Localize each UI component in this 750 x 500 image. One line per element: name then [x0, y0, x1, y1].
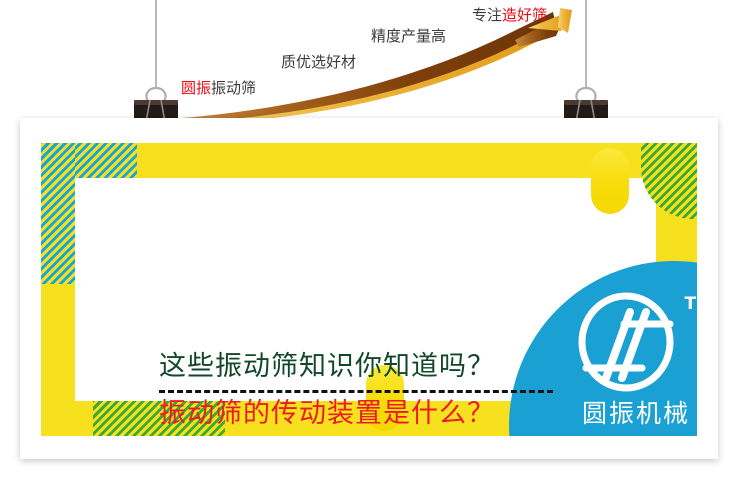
poster-canvas: 圆振振动筛 质优选好材 精度产量高 专注造好筛: [0, 0, 750, 500]
headline-block: 这些振动筛知识你知道吗？ 振动筛的传动装置是什么？: [159, 351, 579, 430]
growth-label-1: 圆振振动筛: [181, 81, 256, 96]
trademark-symbol: TM: [684, 294, 697, 314]
growth-arrow-icon: [0, 0, 750, 125]
growth-label-1-rest: 振动筛: [211, 79, 256, 97]
poster-card-body: TM 圆振机械 这些振动筛知识你知道吗？ 振动筛的传动装置是什么？: [41, 143, 697, 436]
growth-label-1-highlight: 圆振: [181, 79, 211, 97]
growth-label-3: 精度产量高: [371, 29, 446, 44]
headline-secondary: 振动筛的传动装置是什么？: [159, 398, 579, 430]
stripe-accent-top-right: [641, 143, 697, 219]
binder-clip-icon: [558, 0, 614, 126]
growth-label-2: 质优选好材: [281, 55, 356, 70]
headline-divider: [159, 390, 553, 393]
growth-label-4: 专注造好筛: [472, 8, 547, 23]
headline-primary: 这些振动筛知识你知道吗？: [159, 351, 579, 383]
stripe-accent-left: [41, 143, 75, 284]
growth-label-4-plain: 专注: [472, 6, 502, 24]
growth-banner: 圆振振动筛 质优选好材 精度产量高 专注造好筛: [0, 0, 750, 125]
yuanzhen-monogram-icon: [564, 290, 694, 394]
binder-clip-icon: [128, 0, 184, 126]
growth-label-4-highlight: 造好筛: [502, 6, 547, 24]
decor-tab-top: [591, 148, 629, 214]
